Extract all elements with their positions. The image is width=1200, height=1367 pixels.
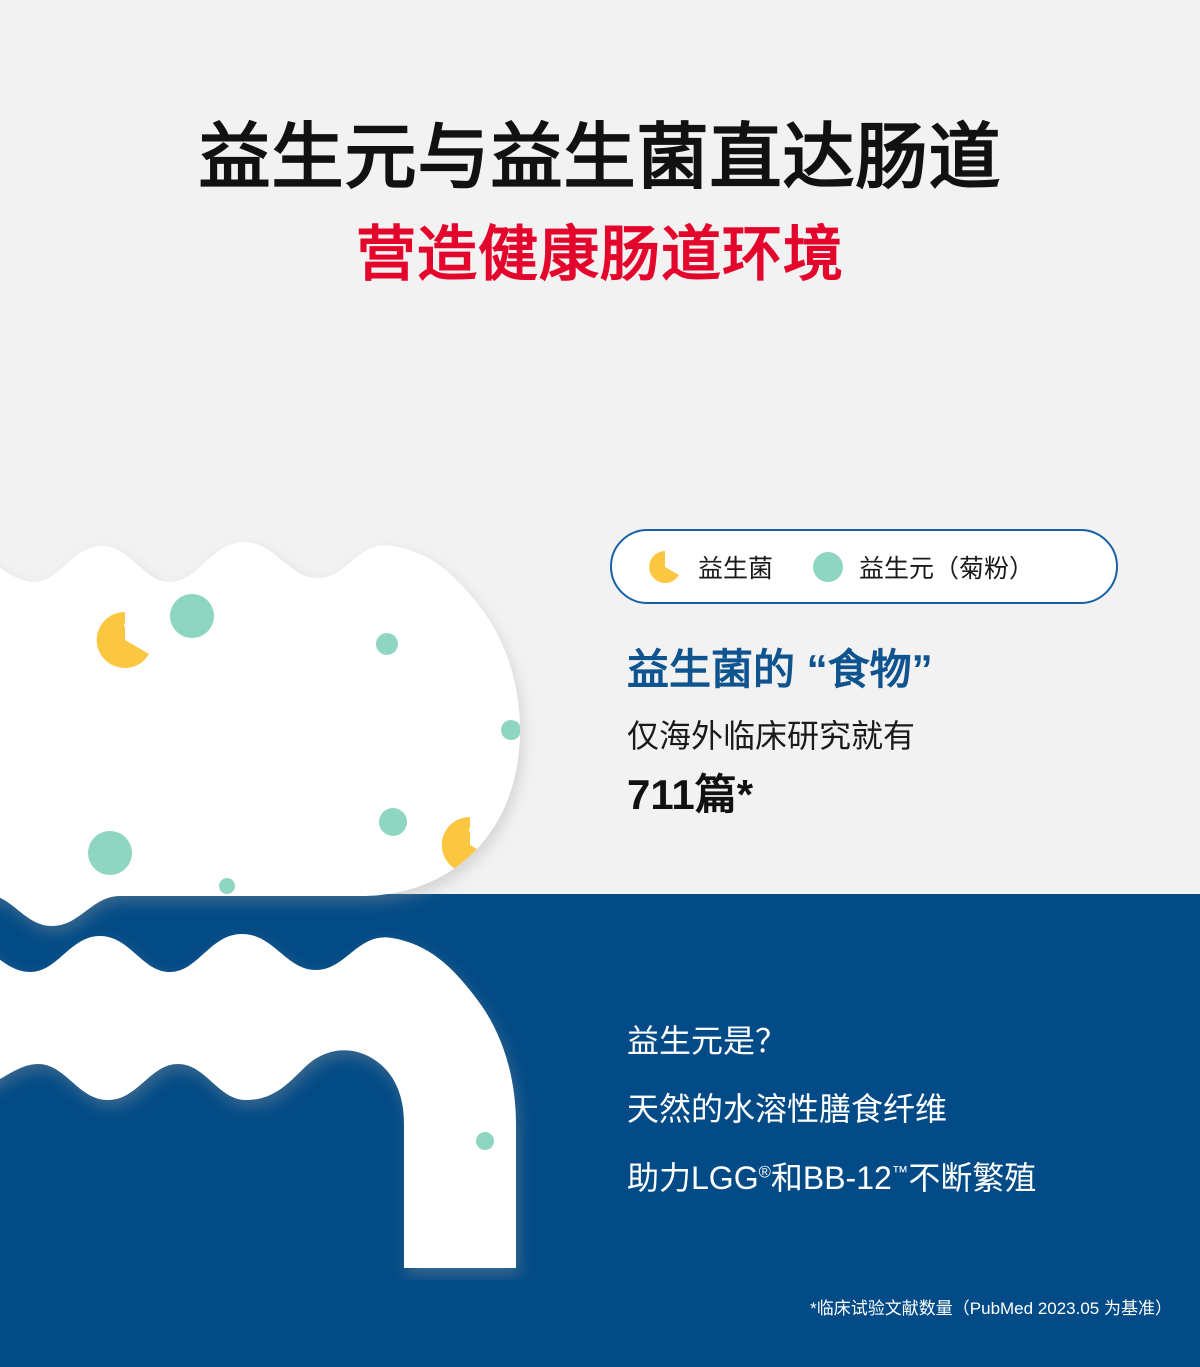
registered-mark-sup: ® (759, 1162, 771, 1181)
prebiotic-dot (219, 878, 235, 894)
trademark-mark-sup: ™ (892, 1162, 909, 1181)
research-count-stat: 711篇* (627, 770, 1147, 820)
strain-support-middle: 和BB-12 (771, 1160, 892, 1196)
circle-prebiotic-icon (813, 552, 843, 582)
prebiotic-dot (170, 594, 214, 638)
intestine-cross-section-illustration (0, 520, 620, 1280)
prebiotic-dot (379, 808, 407, 836)
legend-label-probiotic: 益生菌 (698, 549, 773, 585)
pacman-probiotic-icon (317, 1082, 369, 1138)
prebiotic-dot (376, 633, 398, 655)
prebiotic-dot (88, 831, 132, 875)
headline-sub-title: 营造健康肠道环境 (0, 221, 1200, 288)
prebiotic-dot (227, 1121, 263, 1157)
strain-support-suffix: 不断繁殖 (908, 1160, 1036, 1196)
prebiotic-question-line: 益生元是？ (627, 1022, 1187, 1060)
legend-item-prebiotic: 益生元（菊粉） (813, 549, 1034, 585)
overseas-research-line: 仅海外临床研究就有 (627, 717, 1147, 755)
light-panel-text-block: 益生菌的 “食物” 仅海外临床研究就有 711篇* (627, 645, 1147, 820)
footnote-text: *临床试验文献数量（PubMed 2023.05 为基准） (810, 1294, 1172, 1319)
strain-support-prefix: 助力LGG (627, 1160, 759, 1196)
strain-support-line: 助力LGG®和BB-12™不断繁殖 (627, 1159, 1187, 1197)
prebiotic-food-title: 益生菌的 “食物” (627, 645, 1147, 695)
prebiotic-dot (501, 720, 521, 740)
legend-item-probiotic: 益生菌 (648, 549, 773, 585)
poster-root: 益生元与益生菌直达肠道 营造健康肠道环境 (0, 0, 1200, 1367)
intestine-upper-loop (0, 542, 520, 926)
prebiotic-dot (68, 1178, 94, 1204)
pacman-probiotic-icon (648, 550, 682, 584)
prebiotic-dot (476, 1132, 494, 1150)
headline-main-title: 益生元与益生菌直达肠道 (0, 118, 1200, 199)
headline-block: 益生元与益生菌直达肠道 营造健康肠道环境 (0, 118, 1200, 288)
legend-label-prebiotic: 益生元（菊粉） (859, 549, 1034, 585)
intestine-lower-loop (0, 934, 516, 1268)
legend-pill: 益生菌 益生元（菊粉） (610, 529, 1118, 604)
prebiotic-definition-line: 天然的水溶性膳食纤维 (627, 1090, 1187, 1128)
blue-panel-text-block: 益生元是？ 天然的水溶性膳食纤维 助力LGG®和BB-12™不断繁殖 (627, 1022, 1187, 1197)
